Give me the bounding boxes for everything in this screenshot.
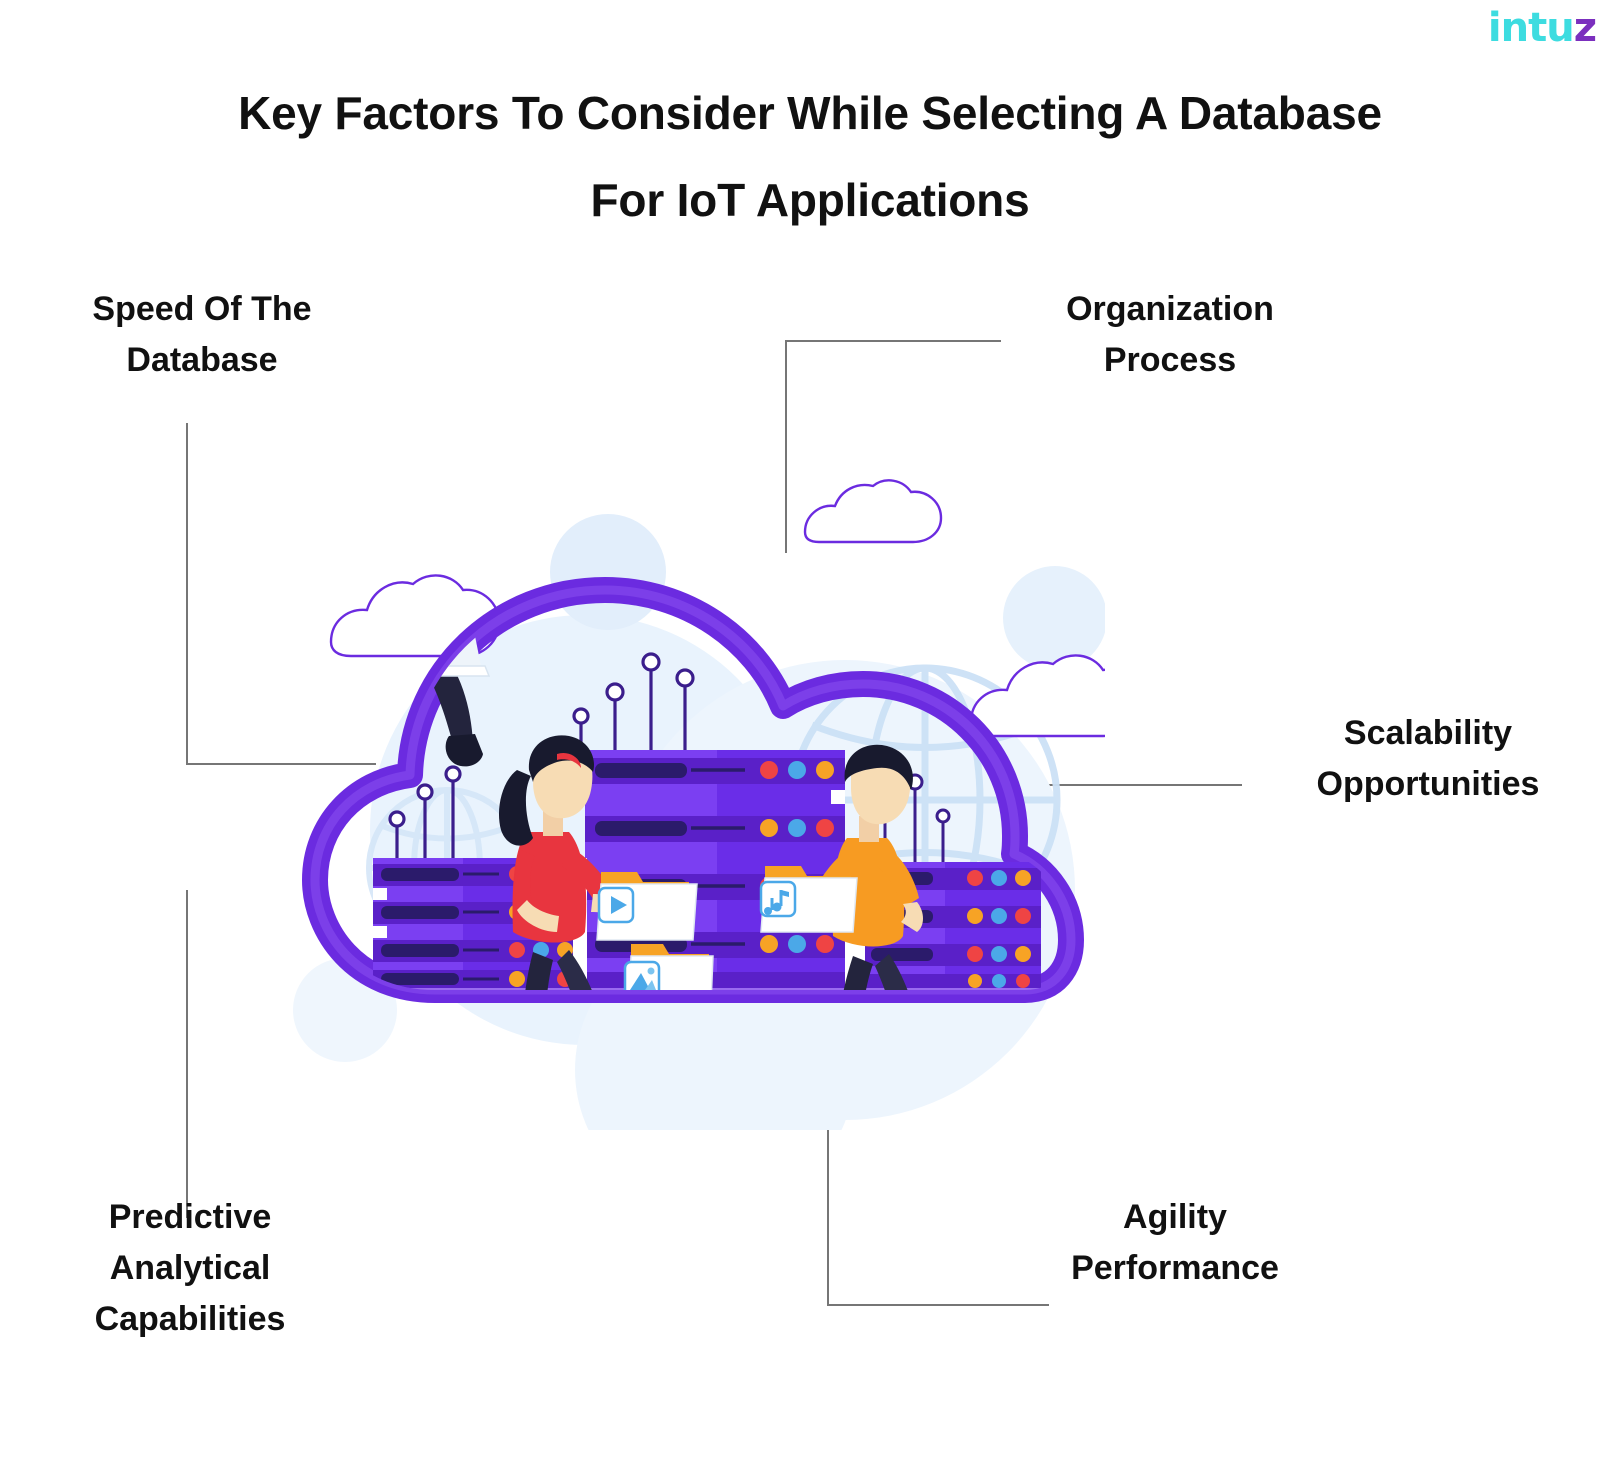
- page-title: Key Factors To Consider While Selecting …: [0, 70, 1620, 245]
- logo-text: intu: [1488, 5, 1574, 51]
- small-cloud-icon-top: [805, 480, 941, 542]
- connector-organization-horizontal: [785, 340, 1001, 342]
- server-rack-center: [585, 750, 845, 988]
- background-circle-small-right: [1003, 566, 1105, 670]
- infographic-page: intuz Key Factors To Consider While Sele…: [0, 0, 1620, 1460]
- factor-label-line-3: Capabilities: [30, 1294, 350, 1345]
- intuz-logo: intuz: [1488, 8, 1596, 48]
- small-cloud-icon-right: [971, 655, 1105, 736]
- factor-label-line-2: Database: [22, 335, 382, 386]
- sitting-person-backdrop: [376, 498, 464, 578]
- connector-agility-horizontal: [827, 1304, 1049, 1306]
- factor-label-agility-performance: Agility Performance: [1000, 1192, 1350, 1294]
- sitting-person-hair: [392, 495, 446, 532]
- background-circle-small-top: [550, 514, 666, 630]
- page-title-line-2: For IoT Applications: [0, 157, 1620, 244]
- factor-label-line-1: Speed Of The: [22, 284, 382, 335]
- logo-accent-char: z: [1574, 5, 1596, 51]
- factor-label-scalability-opportunities: Scalability Opportunities: [1248, 708, 1608, 810]
- cloud-data-center-illustration: [285, 470, 1105, 1130]
- factor-label-line-2: Opportunities: [1248, 759, 1608, 810]
- factor-label-organization-process: Organization Process: [1000, 284, 1340, 386]
- factor-label-line-2: Analytical: [30, 1243, 350, 1294]
- connector-speed-vertical: [186, 423, 188, 765]
- music-note-icon: [761, 882, 795, 916]
- page-title-line-1: Key Factors To Consider While Selecting …: [0, 70, 1620, 157]
- factor-label-line-1: Predictive: [30, 1192, 350, 1243]
- laptop-base: [351, 666, 489, 676]
- factor-label-line-1: Scalability: [1248, 708, 1608, 759]
- connector-agility-vertical: [827, 1128, 829, 1306]
- video-play-icon: [599, 888, 633, 922]
- connector-predictive-vertical: [186, 890, 188, 1218]
- factor-label-line-2: Process: [1000, 335, 1340, 386]
- factor-label-line-1: Agility: [1000, 1192, 1350, 1243]
- sitting-person-neck: [407, 554, 429, 574]
- factor-label-speed-of-the-database: Speed Of The Database: [22, 284, 382, 386]
- factor-label-line-2: Performance: [1000, 1243, 1350, 1294]
- sitting-person-head: [393, 505, 443, 563]
- factor-label-line-1: Organization: [1000, 284, 1340, 335]
- factor-label-predictive-analytical-capabilities: Predictive Analytical Capabilities: [30, 1192, 350, 1345]
